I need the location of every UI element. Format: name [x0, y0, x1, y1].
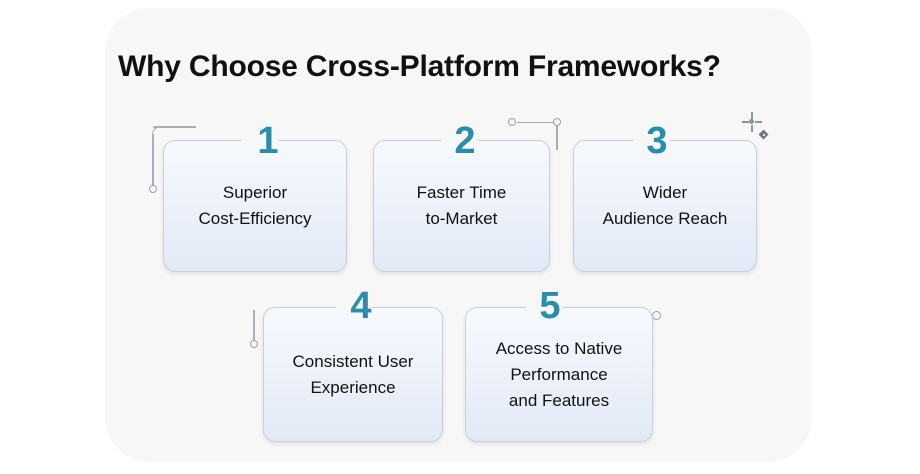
infographic-canvas: Why Choose Cross-Platform Frameworks?: [0, 0, 920, 474]
benefit-card-line-1: Consistent User: [270, 349, 436, 375]
benefit-card-number: 4: [345, 287, 377, 325]
vertical-line-with-dot-icon: [248, 310, 262, 352]
benefit-card-text: Faster Time to-Market: [374, 180, 549, 232]
benefit-card-number: 5: [534, 287, 566, 325]
page-title: Why Choose Cross-Platform Frameworks?: [118, 50, 818, 84]
benefit-card-number: 2: [449, 122, 481, 160]
benefit-card-text: Superior Cost-Efficiency: [164, 180, 346, 232]
benefit-card-line-1: Superior: [170, 180, 340, 206]
benefit-card[interactable]: Consistent User Experience: [263, 307, 443, 442]
benefit-card-line-2: to-Market: [380, 206, 543, 232]
benefit-card-text: Access to Native Performance and Feature…: [466, 336, 652, 414]
benefit-card-line-1: Faster Time: [380, 180, 543, 206]
benefit-card-text: Consistent User Experience: [264, 349, 442, 401]
benefit-card-line-1: Access to Native: [472, 336, 646, 362]
sparkle-star-icon: [742, 112, 772, 142]
benefit-card-line-2: Experience: [270, 375, 436, 401]
benefit-card-line-3: and Features: [472, 388, 646, 414]
benefit-card-line-2: Audience Reach: [580, 206, 750, 232]
benefit-card-line-1: Wider: [580, 180, 750, 206]
benefit-card-number: 3: [641, 122, 673, 160]
benefit-card-text: Wider Audience Reach: [574, 180, 756, 232]
benefit-card-number: 1: [252, 122, 284, 160]
benefit-card[interactable]: Access to Native Performance and Feature…: [465, 307, 653, 442]
benefit-card-line-2: Performance: [472, 362, 646, 388]
benefit-card-line-2: Cost-Efficiency: [170, 206, 340, 232]
small-circle-dot-icon: [652, 311, 664, 323]
